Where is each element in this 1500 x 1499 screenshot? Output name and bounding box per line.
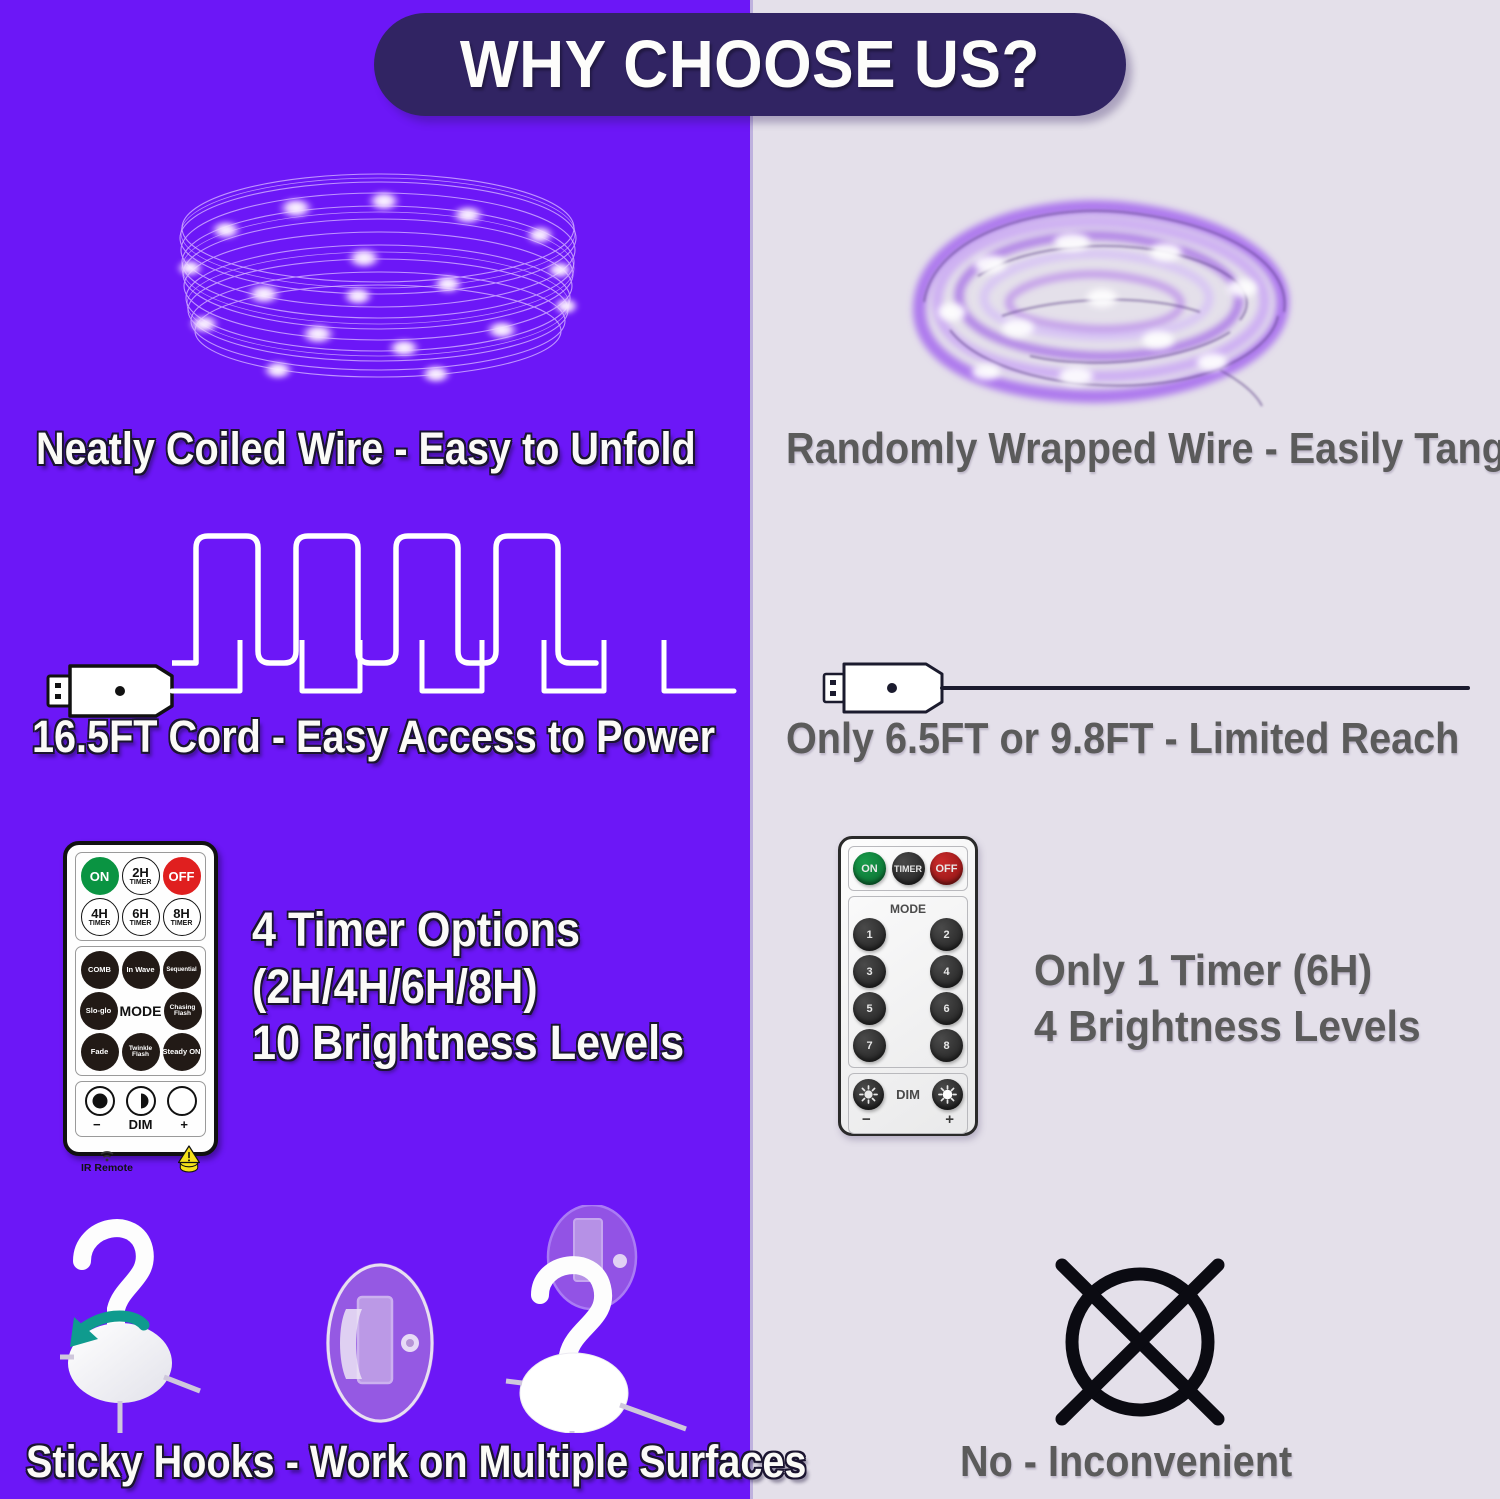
btn-4h-sub: TIMER	[89, 920, 111, 927]
mode-button-in-wave[interactable]: In Wave	[122, 951, 160, 989]
btn-8h-label: 8H	[173, 907, 190, 920]
mode-button-fade[interactable]: Fade	[81, 1033, 119, 1071]
dim-plus-label[interactable]: +	[180, 1117, 188, 1132]
mode-sequential-label: Sequential	[166, 967, 196, 973]
usb-connector-left	[48, 666, 172, 716]
mode-twinkle-label: Twinkle Flash	[122, 1046, 160, 1059]
left-feature-line-2: (2H/4H/6H/8H)	[252, 960, 684, 1017]
remote-8h-timer-button[interactable]: 8H TIMER	[163, 898, 201, 936]
ir-signal-icon	[99, 1151, 115, 1162]
right-dim-label: DIM	[896, 1087, 920, 1102]
right-dim-row: DIM	[853, 1079, 963, 1110]
btn-6h-sub: TIMER	[130, 920, 152, 927]
right-coil-caption: Randomly Wrapped Wire - Easily Tangled	[786, 424, 1500, 473]
btn-6h-label: 6H	[132, 907, 149, 920]
right-mode-button-5[interactable]: 5	[853, 992, 886, 1025]
right-dim-minus[interactable]: −	[862, 1111, 871, 1128]
off-label: OFF	[169, 870, 195, 883]
right-feature-line-2: 4 Brightness Levels	[1034, 999, 1421, 1055]
tangled-coil-image	[890, 180, 1305, 420]
right-mode-button-6[interactable]: 6	[930, 992, 963, 1025]
left-cord-caption: 16.5FT Cord - Easy Access to Power	[32, 712, 715, 762]
right-hooks-caption: No - Inconvenient	[960, 1437, 1292, 1486]
sticky-hook-open-image	[60, 1205, 280, 1433]
right-top-row: ON TIMER OFF	[853, 852, 963, 885]
right-mode-button-4[interactable]: 4	[930, 955, 963, 988]
mode-button-chasing-flash[interactable]: Chasing Flash	[164, 992, 202, 1030]
right-dim-labels: − +	[853, 1111, 963, 1128]
right-mode-button-8[interactable]: 8	[930, 1029, 963, 1062]
remote-off-button[interactable]: OFF	[163, 857, 201, 895]
infographic-page: WHY CHOOSE US?	[0, 0, 1500, 1499]
right-remote-off-button[interactable]: OFF	[930, 852, 963, 885]
left-remote-timer-group: ON 2H TIMER OFF 4H TIMER 6H TIMER	[75, 852, 206, 941]
dim-minus-label[interactable]: −	[93, 1117, 101, 1132]
mode-button-slo-glo[interactable]: Slo-glo	[80, 992, 118, 1030]
right-dim-up-icon[interactable]	[932, 1079, 963, 1110]
left-hooks-caption: Sticky Hooks - Work on Multiple Surfaces	[26, 1437, 806, 1487]
mode-comb-label: COMB	[88, 966, 111, 974]
right-mode-button-2[interactable]: 2	[930, 918, 963, 951]
header-banner: WHY CHOOSE US?	[374, 13, 1126, 116]
mode-sloglo-label: Slo-glo	[86, 1007, 111, 1015]
btn-2h-sub: TIMER	[130, 879, 152, 886]
neat-coil-image	[168, 158, 588, 408]
left-remote-footer: IR Remote	[75, 1142, 206, 1174]
mode-row-3: Fade Twinkle Flash Steady ON	[79, 1033, 202, 1071]
mode-button-steady-on[interactable]: Steady ON	[163, 1033, 201, 1071]
right-remote-control[interactable]: ON TIMER OFF MODE 1 2 3 4 5 6 7 8	[838, 836, 978, 1136]
right-remote-dim-group: DIM − +	[848, 1073, 968, 1134]
right-feature-line-1: Only 1 Timer (6H)	[1034, 943, 1421, 999]
right-remote-on-button[interactable]: ON	[853, 852, 886, 885]
page-title: WHY CHOOSE US?	[460, 26, 1040, 103]
left-remote-control[interactable]: ON 2H TIMER OFF 4H TIMER 6H TIMER	[63, 841, 218, 1156]
right-mode-button-7[interactable]: 7	[853, 1029, 886, 1062]
remote-2h-timer-button[interactable]: 2H TIMER	[122, 857, 160, 895]
battery-warning-icon	[176, 1144, 202, 1174]
mode-chasing-label: Chasing Flash	[164, 1005, 202, 1018]
ir-remote-label: IR Remote	[81, 1162, 133, 1174]
btn-4h-label: 4H	[91, 907, 108, 920]
remote-6h-timer-button[interactable]: 6H TIMER	[122, 898, 160, 936]
right-mode-row-1: 1 2	[853, 918, 963, 951]
dim-dial-row	[79, 1086, 202, 1116]
dim-label-row: − DIM +	[79, 1117, 202, 1132]
left-feature-text: 4 Timer Options (2H/4H/6H/8H) 10 Brightn…	[252, 903, 684, 1073]
on-label: ON	[90, 870, 110, 883]
left-cord-wave	[172, 528, 752, 688]
left-feature-line-1: 4 Timer Options	[252, 903, 684, 960]
mode-inwave-label: In Wave	[126, 966, 154, 974]
right-dim-down-icon[interactable]	[853, 1079, 884, 1110]
timer-row-1: ON 2H TIMER OFF	[79, 857, 202, 895]
left-remote-dim-group: − DIM +	[75, 1081, 206, 1137]
remote-on-button[interactable]: ON	[81, 857, 119, 895]
mode-button-sequential[interactable]: Sequential	[163, 951, 201, 989]
mode-section-label: MODE	[119, 1003, 163, 1019]
column-divider	[750, 0, 753, 1499]
sticky-hook-assembled-image	[470, 1205, 700, 1433]
right-dim-plus[interactable]: +	[945, 1111, 954, 1128]
sticky-hook-adhesive-pad-image	[310, 1255, 450, 1430]
mode-row-2: Slo-glo MODE Chasing Flash	[79, 992, 202, 1030]
right-feature-text: Only 1 Timer (6H) 4 Brightness Levels	[1034, 943, 1421, 1056]
right-remote-timer-button[interactable]: TIMER	[892, 852, 925, 885]
remote-4h-timer-button[interactable]: 4H TIMER	[81, 898, 119, 936]
usb-connector-right	[824, 664, 942, 712]
btn-2h-label: 2H	[132, 866, 149, 879]
no-crossed-circle-icon	[1040, 1245, 1240, 1440]
right-mode-label: MODE	[853, 902, 963, 916]
mode-fade-label: Fade	[91, 1048, 109, 1056]
right-mode-row-3: 5 6	[853, 992, 963, 1025]
right-cord-caption: Only 6.5FT or 9.8FT - Limited Reach	[786, 714, 1459, 763]
right-mode-row-2: 3 4	[853, 955, 963, 988]
left-remote-mode-group: COMB In Wave Sequential Slo-glo MODE Cha…	[75, 946, 206, 1076]
right-mode-row-4: 7 8	[853, 1029, 963, 1062]
mode-button-twinkle-flash[interactable]: Twinkle Flash	[122, 1033, 160, 1071]
timer-row-2: 4H TIMER 6H TIMER 8H TIMER	[79, 898, 202, 936]
mode-button-comb[interactable]: COMB	[81, 951, 119, 989]
btn-8h-sub: TIMER	[171, 920, 193, 927]
dim-word-label: DIM	[129, 1117, 153, 1132]
mode-steady-label: Steady ON	[163, 1048, 201, 1056]
left-feature-line-3: 10 Brightness Levels	[252, 1016, 684, 1073]
dim-dial-low-icon[interactable]	[85, 1086, 115, 1116]
right-mode-button-3[interactable]: 3	[853, 955, 886, 988]
dim-dial-mid-icon[interactable]	[126, 1086, 156, 1116]
left-coil-caption: Neatly Coiled Wire - Easy to Unfold	[36, 424, 696, 474]
right-mode-button-1[interactable]: 1	[853, 918, 886, 951]
dim-dial-high-icon[interactable]	[167, 1086, 197, 1116]
mode-row-1: COMB In Wave Sequential	[79, 951, 202, 989]
right-remote-mode-group: MODE 1 2 3 4 5 6 7 8	[848, 896, 968, 1068]
right-remote-top-group: ON TIMER OFF	[848, 846, 968, 891]
